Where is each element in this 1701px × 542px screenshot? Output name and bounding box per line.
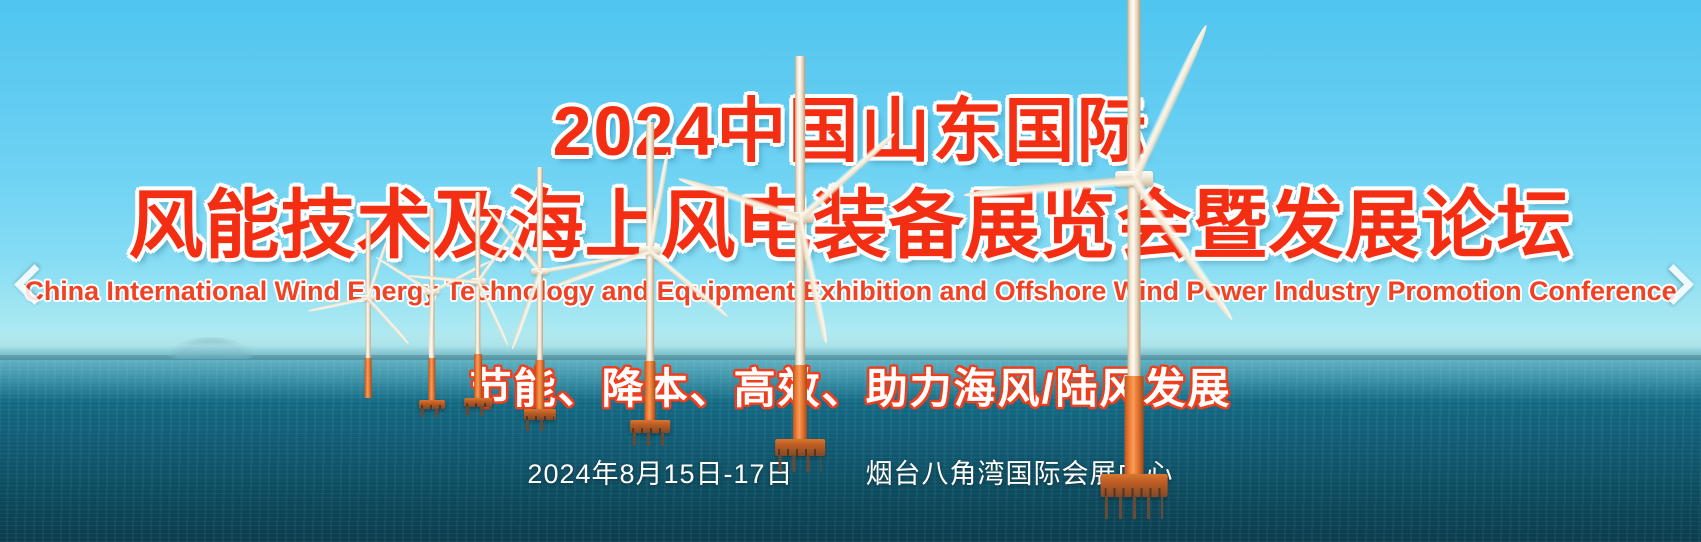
turbine-jacket-legs <box>778 455 821 472</box>
wind-turbine <box>681 56 919 443</box>
wind-turbine <box>975 0 1294 480</box>
turbine-blade <box>963 175 1134 200</box>
turbine-transition-piece <box>793 365 807 443</box>
turbine-jacket-legs <box>421 408 443 417</box>
turbine-foundation-platform <box>775 439 825 456</box>
promo-banner-slide: 2024中国山东国际 风能技术及海上风电装备展览会暨发展论坛 China Int… <box>0 0 1701 542</box>
turbine-blade <box>797 130 897 221</box>
chevron-right-icon <box>1653 264 1694 305</box>
turbine-jacket-legs <box>526 420 554 431</box>
carousel-next-button[interactable] <box>1649 262 1695 308</box>
turbine-transition-piece <box>1125 376 1144 480</box>
turbine-blade <box>554 248 651 288</box>
turbine-foundation-platform <box>1101 474 1168 497</box>
turbine-blade <box>678 175 802 222</box>
turbine-blade <box>485 207 542 273</box>
turbine-tower <box>537 167 543 360</box>
turbine-jacket-legs <box>1105 496 1163 519</box>
chevron-left-icon <box>14 264 55 305</box>
event-info-row: 2024年8月15日-17日 烟台八角湾国际会展中心 <box>0 452 1701 491</box>
turbine-blade <box>1129 23 1210 182</box>
event-date: 2024年8月15日-17日 <box>527 452 793 491</box>
turbine-transition-piece <box>644 361 655 423</box>
turbine-blade <box>1130 177 1236 323</box>
carousel-prev-button[interactable] <box>6 262 52 308</box>
turbine-transition-piece <box>535 360 544 412</box>
turbine-jacket-legs <box>633 432 667 446</box>
turbine-blade <box>308 296 369 312</box>
turbine-foundation-platform <box>630 420 670 434</box>
turbine-foundation-platform <box>524 409 556 420</box>
